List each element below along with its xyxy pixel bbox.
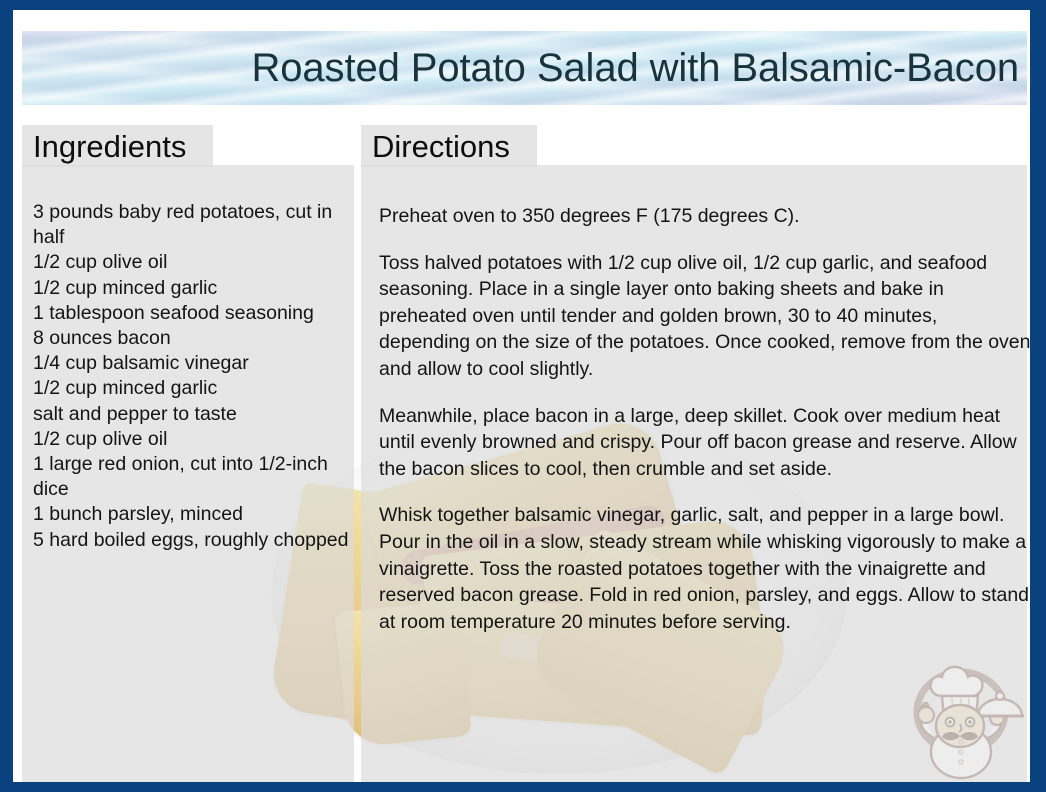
directions-heading: Directions [361, 131, 510, 162]
ingredient-item: 1 bunch parsley, minced [33, 502, 351, 527]
ingredient-item: 1/4 cup balsamic vinegar [33, 351, 351, 376]
title-banner: Roasted Potato Salad with Balsamic-Bacon [22, 31, 1027, 105]
ingredient-item: 1 tablespoon seafood seasoning [33, 301, 351, 326]
ingredients-heading-box: Ingredients [22, 125, 213, 167]
ingredient-item: 1/2 cup minced garlic [33, 276, 351, 301]
ingredient-item: 5 hard boiled eggs, roughly chopped [33, 528, 351, 553]
chef-logo-icon [898, 660, 1024, 780]
ingredient-item: 3 pounds baby red potatoes, cut in half [33, 200, 351, 250]
card-inner-surface: Roasted Potato Salad with Balsamic-Bacon… [13, 10, 1030, 782]
direction-step: Meanwhile, place bacon in a large, deep … [379, 403, 1031, 483]
directions-list: Preheat oven to 350 degrees F (175 degre… [379, 203, 1031, 635]
direction-step: Toss halved potatoes with 1/2 cup olive … [379, 250, 1031, 383]
ingredient-item: 1/2 cup olive oil [33, 427, 351, 452]
ingredient-item: 1 large red onion, cut into 1/2-inch dic… [33, 452, 351, 502]
recipe-card: Roasted Potato Salad with Balsamic-Bacon… [0, 0, 1046, 792]
ingredient-item: 8 ounces bacon [33, 326, 351, 351]
directions-heading-box: Directions [361, 125, 537, 167]
ingredients-list: 3 pounds baby red potatoes, cut in half … [33, 200, 351, 553]
ingredient-item: 1/2 cup minced garlic [33, 376, 351, 401]
ingredient-item: 1/2 cup olive oil [33, 250, 351, 275]
ingredient-item: salt and pepper to taste [33, 402, 351, 427]
direction-step: Preheat oven to 350 degrees F (175 degre… [379, 203, 1031, 230]
ingredients-heading: Ingredients [22, 131, 186, 162]
direction-step: Whisk together balsamic vinegar, garlic,… [379, 502, 1031, 635]
recipe-title: Roasted Potato Salad with Balsamic-Bacon [22, 47, 1019, 89]
